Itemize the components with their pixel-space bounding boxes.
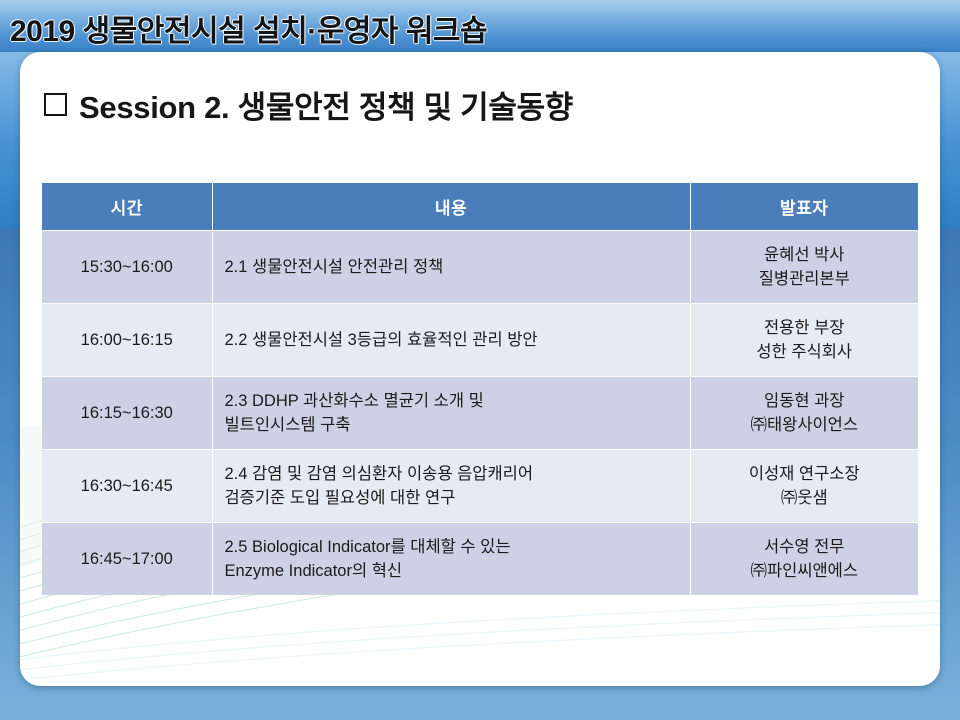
cell-time: 16:45~17:00 (42, 523, 212, 596)
column-header-content: 내용 (212, 183, 690, 231)
content-line-2: Enzyme Indicator의 혁신 (225, 559, 682, 583)
cell-content: 2.3 DDHP 과산화수소 멸균기 소개 및 빌트인시스템 구축 (212, 377, 690, 450)
table-row: 16:00~16:15 2.2 생물안전시설 3등급의 효율적인 관리 방안 전… (42, 304, 918, 377)
content-line-1: 2.2 생물안전시설 3등급의 효율적인 관리 방안 (225, 328, 682, 352)
square-outline-icon (44, 93, 67, 116)
cell-content: 2.4 감염 및 감염 의심환자 이송용 음압캐리어 검증기준 도입 필요성에 … (212, 450, 690, 523)
slide-canvas: 2019 생물안전시설 설치·운영자 워크숍 (0, 0, 960, 720)
cell-content: 2.2 생물안전시설 3등급의 효율적인 관리 방안 (212, 304, 690, 377)
table-row: 16:30~16:45 2.4 감염 및 감염 의심환자 이송용 음압캐리어 검… (42, 450, 918, 523)
column-header-time: 시간 (42, 183, 212, 231)
page-title: 2019 생물안전시설 설치·운영자 워크숍 (10, 6, 487, 50)
table-row: 16:15~16:30 2.3 DDHP 과산화수소 멸균기 소개 및 빌트인시… (42, 377, 918, 450)
agenda-table: 시간 내용 발표자 15:30~16:00 2.1 생물안전시설 안전관리 정책… (42, 183, 918, 595)
cell-content: 2.1 생물안전시설 안전관리 정책 (212, 231, 690, 304)
cell-time: 16:15~16:30 (42, 377, 212, 450)
cell-speaker: 윤혜선 박사 질병관리본부 (690, 231, 918, 304)
speaker-organization: 성한 주식회사 (695, 340, 915, 364)
speaker-name: 전용한 부장 (695, 316, 915, 340)
cell-time: 15:30~16:00 (42, 231, 212, 304)
cell-speaker: 임동현 과장 ㈜태왕사이언스 (690, 377, 918, 450)
speaker-organization: ㈜웃샘 (695, 486, 915, 510)
speaker-name: 이성재 연구소장 (695, 462, 915, 486)
table-row: 16:45~17:00 2.5 Biological Indicator를 대체… (42, 523, 918, 596)
cell-content: 2.5 Biological Indicator를 대체할 수 있는 Enzym… (212, 523, 690, 596)
content-line-1: 2.4 감염 및 감염 의심환자 이송용 음압캐리어 (225, 462, 682, 486)
session-heading: Session 2. 생물안전 정책 및 기술동향 (44, 82, 573, 127)
table-row: 15:30~16:00 2.1 생물안전시설 안전관리 정책 윤혜선 박사 질병… (42, 231, 918, 304)
cell-speaker: 서수영 전무 ㈜파인씨앤에스 (690, 523, 918, 596)
speaker-name: 윤혜선 박사 (695, 243, 915, 267)
title-band: 2019 생물안전시설 설치·운영자 워크숍 (0, 0, 960, 52)
content-line-1: 2.5 Biological Indicator를 대체할 수 있는 (225, 535, 682, 559)
cell-time: 16:30~16:45 (42, 450, 212, 523)
agenda-table-body: 15:30~16:00 2.1 생물안전시설 안전관리 정책 윤혜선 박사 질병… (42, 231, 918, 596)
content-line-1: 2.1 생물안전시설 안전관리 정책 (225, 255, 682, 279)
content-line-2: 빌트인시스템 구축 (225, 413, 682, 437)
content-line-1: 2.3 DDHP 과산화수소 멸균기 소개 및 (225, 389, 682, 413)
agenda-table-head: 시간 내용 발표자 (42, 183, 918, 231)
session-heading-label: Session 2. 생물안전 정책 및 기술동향 (79, 90, 573, 125)
content-line-2: 검증기준 도입 필요성에 대한 연구 (225, 486, 682, 510)
table-header-row: 시간 내용 발표자 (42, 183, 918, 231)
speaker-name: 임동현 과장 (695, 389, 915, 413)
cell-speaker: 이성재 연구소장 ㈜웃샘 (690, 450, 918, 523)
cell-time: 16:00~16:15 (42, 304, 212, 377)
column-header-speaker: 발표자 (690, 183, 918, 231)
content-panel: Session 2. 생물안전 정책 및 기술동향 시간 내용 발표자 15:3… (20, 52, 940, 686)
speaker-organization: 질병관리본부 (695, 267, 915, 291)
speaker-organization: ㈜태왕사이언스 (695, 413, 915, 437)
speaker-organization: ㈜파인씨앤에스 (695, 559, 915, 583)
speaker-name: 서수영 전무 (695, 535, 915, 559)
cell-speaker: 전용한 부장 성한 주식회사 (690, 304, 918, 377)
